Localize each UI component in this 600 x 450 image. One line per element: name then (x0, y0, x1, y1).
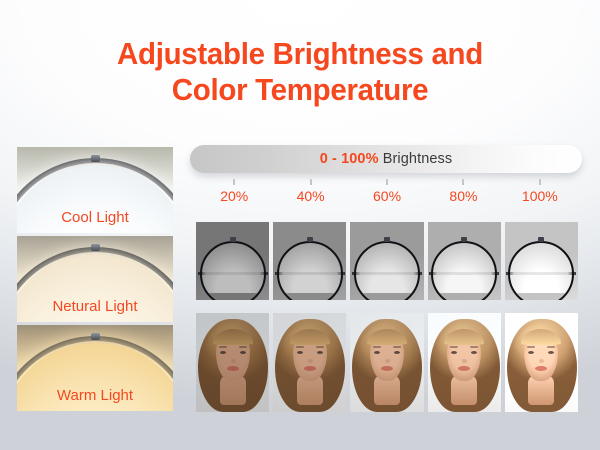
title-line-1: Adjustable Brightness and (15, 36, 585, 72)
brightness-tick-100: 100% (502, 179, 578, 204)
portrait-tile-100 (505, 313, 578, 412)
lamp-brightness-tile-row (196, 222, 578, 300)
lamp-mount-nub (307, 237, 313, 242)
portrait-shading-overlay (428, 313, 501, 412)
lamp-dome (200, 241, 266, 300)
lamp-dome-base-cut (431, 293, 497, 300)
color-temperature-label-warm: Warm Light (17, 387, 173, 404)
lamp-base-edge (275, 272, 345, 275)
tick-mark-icon (539, 179, 541, 185)
brightness-range-value: 0 - 100% (320, 151, 379, 167)
portrait-shading-overlay (196, 313, 269, 412)
brightness-slider-bar[interactable]: 0 - 100% Brightness (190, 145, 582, 173)
tick-label: 100% (502, 188, 578, 204)
brightness-caption-word: Brightness (379, 151, 453, 167)
lamp-dome (277, 241, 343, 300)
lamp-tile-100 (505, 222, 578, 300)
tick-mark-icon (386, 179, 388, 185)
lamp-tile-40 (273, 222, 346, 300)
lamp-base-edge (352, 272, 422, 275)
lamp-mount-nub-neutral (91, 244, 100, 251)
lamp-mount-nub-warm (91, 333, 100, 340)
lamp-tile-20 (196, 222, 269, 300)
lamp-dome (431, 241, 497, 300)
tick-mark-icon (233, 179, 235, 185)
lamp-tile-80 (428, 222, 501, 300)
lamp-dome-base-cut (277, 293, 343, 300)
page-title: Adjustable Brightness and Color Temperat… (0, 36, 600, 108)
color-temperature-panel-neutral: Netural Light (17, 236, 173, 322)
portrait-tile-60 (350, 313, 423, 412)
lamp-mount-nub (384, 237, 390, 242)
lamp-mount-nub (538, 237, 544, 242)
lamp-base-edge (506, 272, 576, 275)
tick-label: 40% (272, 188, 348, 204)
color-temperature-column: Cool Light Netural Light Warm Light (17, 147, 173, 414)
tick-mark-icon (462, 179, 464, 185)
portrait-tile-80 (428, 313, 501, 412)
lamp-mount-nub-cool (91, 155, 100, 162)
brightness-tick-60: 60% (349, 179, 425, 204)
title-line-2: Color Temperature (15, 72, 585, 108)
tick-label: 80% (425, 188, 501, 204)
brightness-tick-40: 40% (272, 179, 348, 204)
brightness-tick-80: 80% (425, 179, 501, 204)
brightness-tick-row: 20%40%60%80%100% (196, 179, 578, 204)
lamp-dome (508, 241, 574, 300)
lamp-tile-60 (350, 222, 423, 300)
portrait-shading-overlay (273, 313, 346, 412)
lamp-dome-base-cut (200, 293, 266, 300)
lamp-dome (354, 241, 420, 300)
portrait-brightness-tile-row (196, 313, 578, 412)
lamp-base-edge (429, 272, 499, 275)
color-temperature-label-neutral: Netural Light (17, 298, 173, 315)
brightness-slider-caption: 0 - 100% Brightness (320, 151, 452, 167)
portrait-shading-overlay (505, 313, 578, 412)
lamp-dome-base-cut (354, 293, 420, 300)
color-temperature-panel-warm: Warm Light (17, 325, 173, 411)
lamp-dome-base-cut (508, 293, 574, 300)
tick-label: 60% (349, 188, 425, 204)
lamp-mount-nub (461, 237, 467, 242)
lamp-mount-nub (230, 237, 236, 242)
portrait-tile-20 (196, 313, 269, 412)
product-feature-image: Adjustable Brightness and Color Temperat… (0, 0, 600, 450)
color-temperature-panel-cool: Cool Light (17, 147, 173, 233)
tick-mark-icon (310, 179, 312, 185)
lamp-base-edge (198, 272, 268, 275)
portrait-tile-40 (273, 313, 346, 412)
tick-label: 20% (196, 188, 272, 204)
color-temperature-label-cool: Cool Light (17, 209, 173, 226)
brightness-tick-20: 20% (196, 179, 272, 204)
portrait-shading-overlay (350, 313, 423, 412)
